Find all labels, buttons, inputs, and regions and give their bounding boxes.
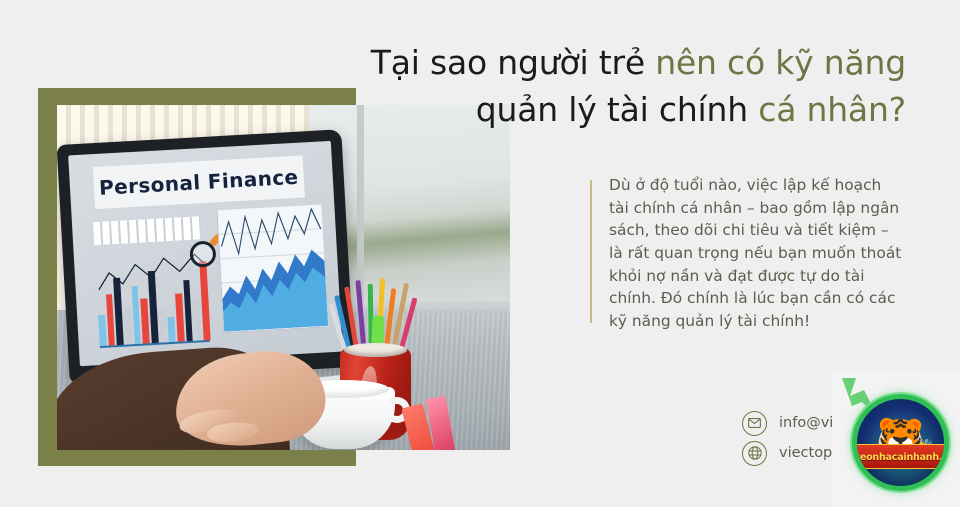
headline-line2-accent: cá nhân? (758, 90, 906, 129)
hero-photo: Personal Finance (57, 105, 510, 450)
body-paragraph: Dù ở độ tuổi nào, việc lập kế hoạch tài … (609, 174, 904, 332)
headline-line1-plain: Tại sao người trẻ (371, 43, 655, 82)
body-accent-rule (590, 180, 592, 323)
headline-line-2: quản lý tài chính cá nhân? (266, 87, 906, 134)
globe-icon (742, 441, 767, 466)
watermark-banner: keonhacainhanh.com (853, 444, 949, 469)
headline-line-1: Tại sao người trẻ nên có kỹ năng (266, 40, 906, 87)
headline-line2-plain: lý tài chính (558, 90, 758, 129)
headline-line1-accent: nên có kỹ năng (655, 43, 906, 82)
watermark-disc: 🐯 🐝 keonhacainhanh.com (852, 394, 949, 491)
page-title: Tại sao người trẻ nên có kỹ năng quản lý… (266, 40, 906, 134)
envelope-icon (742, 411, 767, 436)
photo-vignette (57, 105, 510, 450)
watermark-overlay: 🐯 🐝 keonhacainhanh.com (832, 372, 960, 507)
watermark-site-text: keonhacainhanh.com (854, 452, 949, 463)
headline-line2-lead: quản (476, 90, 558, 129)
slide-canvas: Personal Finance (0, 0, 960, 507)
photo-content: Personal Finance (57, 105, 510, 450)
